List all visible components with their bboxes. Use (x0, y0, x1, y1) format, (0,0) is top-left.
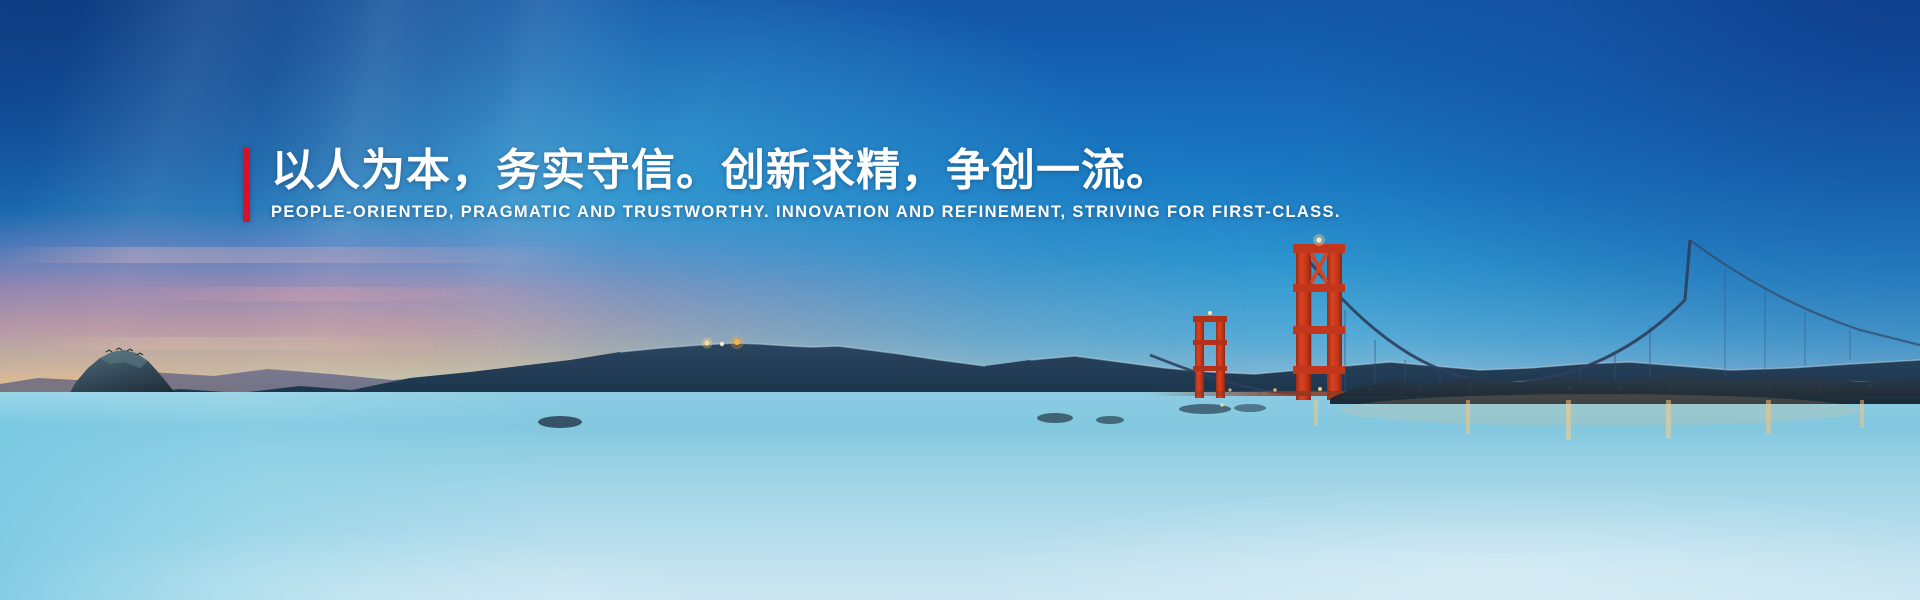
banner-copy: 以人为本，务实守信。创新求精，争创一流。 PEOPLE-ORIENTED, PR… (243, 148, 1341, 222)
banner-subheadline: PEOPLE-ORIENTED, PRAGMATIC AND TRUSTWORT… (271, 203, 1341, 222)
banner-headline: 以人为本，务实守信。创新求精，争创一流。 (271, 148, 1341, 194)
hero-banner: 以人为本，务实守信。创新求精，争创一流。 PEOPLE-ORIENTED, PR… (0, 0, 1920, 600)
red-accent-bar (243, 148, 250, 222)
copy-text-group: 以人为本，务实守信。创新求精，争创一流。 PEOPLE-ORIENTED, PR… (271, 148, 1341, 222)
golden-gate-bridge (0, 0, 1920, 600)
